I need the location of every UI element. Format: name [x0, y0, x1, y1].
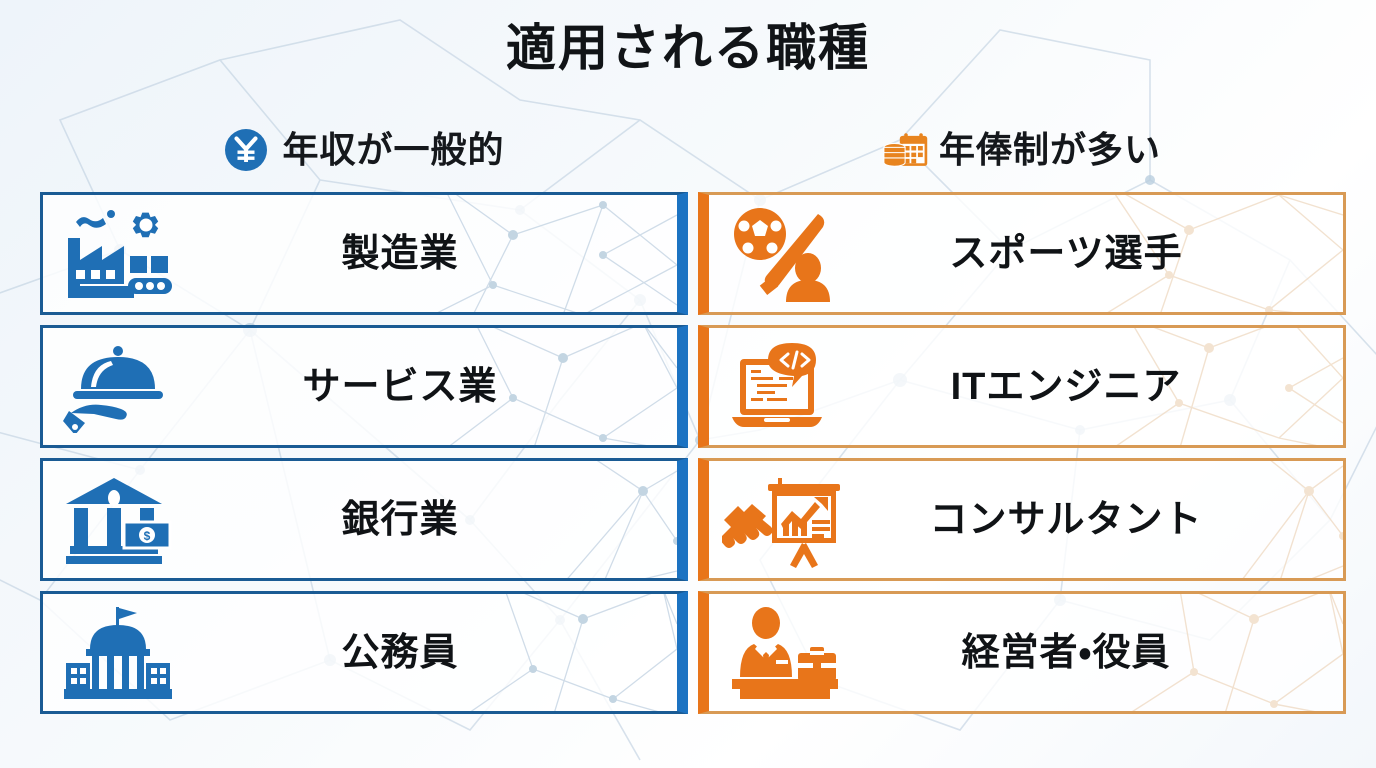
- coins-calendar-icon: [883, 127, 929, 173]
- card-label: 公務員: [193, 631, 677, 675]
- card-label: コンサルタント: [859, 498, 1343, 542]
- card-civil-servant[interactable]: 公務員: [40, 591, 688, 714]
- card-label: スポーツ選手: [859, 232, 1343, 276]
- government-building-icon: [43, 603, 193, 703]
- column-header-right-label: 年俸制が多い: [939, 130, 1161, 170]
- card-manufacturing[interactable]: 製造業: [40, 192, 688, 315]
- laptop-code-icon: [709, 337, 859, 437]
- card-label: 製造業: [193, 232, 677, 276]
- svg-text:$: $: [144, 529, 151, 543]
- column-header-right: 年俸制が多い: [698, 122, 1346, 178]
- card-consultant[interactable]: コンサルタント: [698, 458, 1346, 581]
- card-list-right: スポーツ選手: [698, 192, 1346, 714]
- card-label: 銀行業: [193, 498, 677, 542]
- column-annual-contract-common: 年俸制が多い: [698, 122, 1346, 714]
- column-header-left-label: 年収が一般的: [282, 130, 504, 170]
- card-label: ITエンジニア: [859, 365, 1343, 409]
- infographic-page: 適用される職種 年収が一般的: [0, 0, 1376, 768]
- factory-gear-icon: [43, 204, 193, 304]
- executive-desk-briefcase-icon: [709, 603, 859, 703]
- card-banking[interactable]: $ 銀行業: [40, 458, 688, 581]
- card-executive[interactable]: 経営者・役員: [698, 591, 1346, 714]
- card-label: サービス業: [193, 365, 677, 409]
- page-title: 適用される職種: [0, 18, 1376, 78]
- yen-circle-icon: [223, 127, 269, 173]
- handshake-presentation-icon: [709, 470, 859, 570]
- card-list-left: 製造業: [40, 192, 688, 714]
- card-label: 経営者・役員: [859, 631, 1343, 675]
- card-service-industry[interactable]: サービス業: [40, 325, 688, 448]
- soccer-bat-athlete-icon: [709, 204, 859, 304]
- serving-dome-hand-icon: [43, 337, 193, 437]
- column-header-left: 年収が一般的: [40, 122, 688, 178]
- card-athlete[interactable]: スポーツ選手: [698, 192, 1346, 315]
- card-it-engineer[interactable]: ITエンジニア: [698, 325, 1346, 448]
- bank-banknote-icon: $: [43, 470, 193, 570]
- column-annual-salary-common: 年収が一般的: [40, 122, 688, 714]
